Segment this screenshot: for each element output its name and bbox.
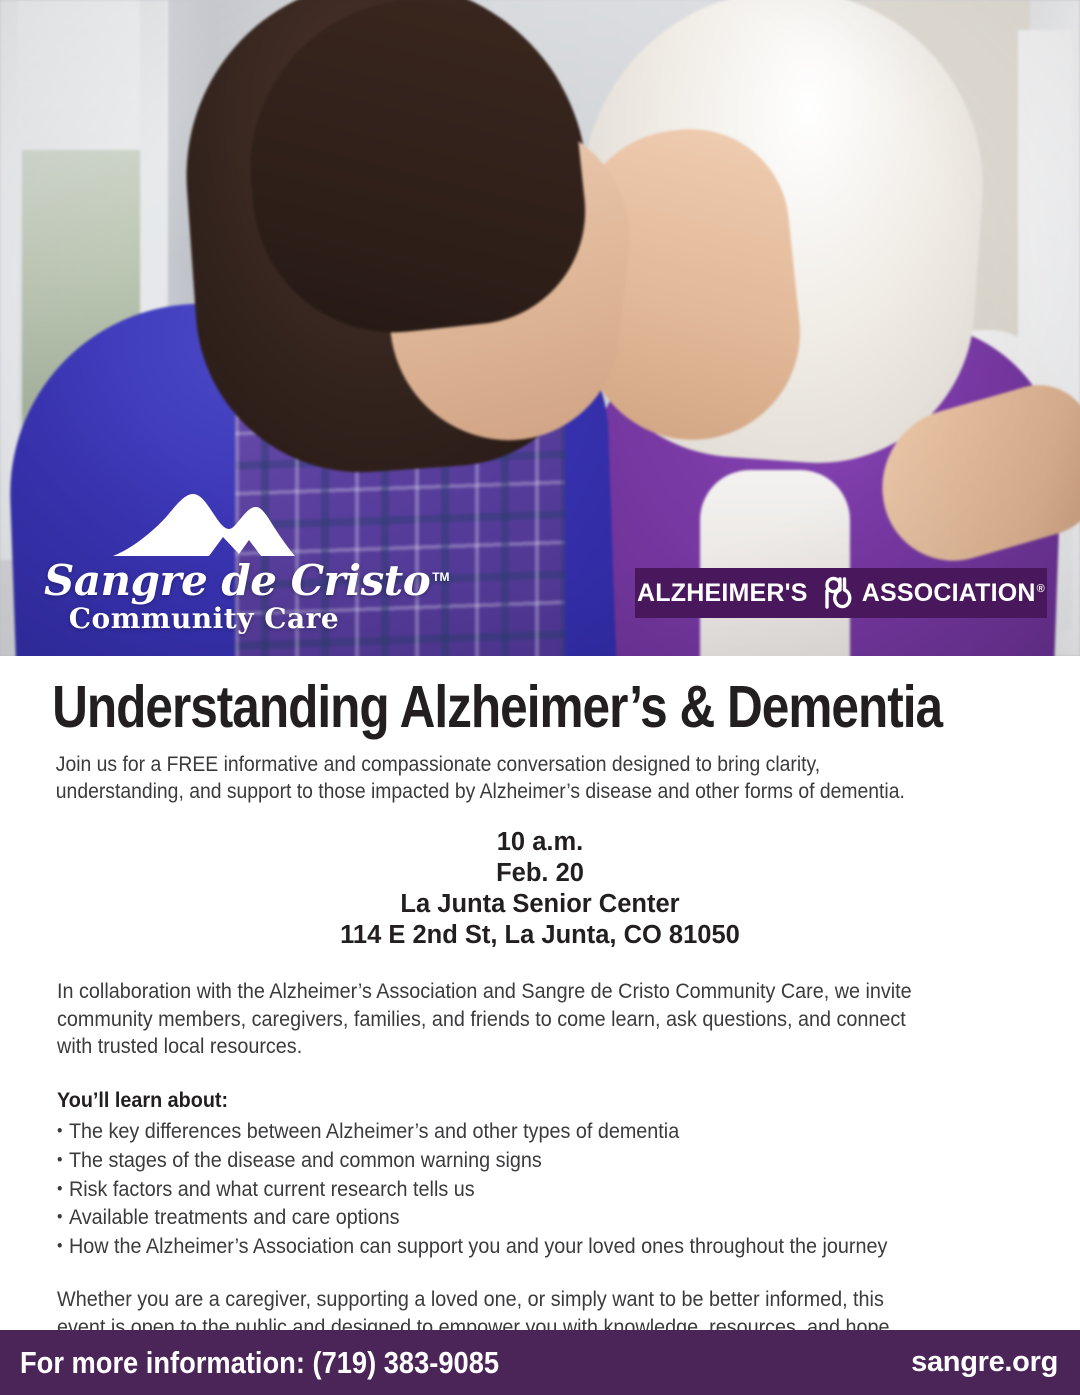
intro-paragraph: Join us for a FREE informative and compa… (0, 751, 972, 805)
hero-photo: Sangre de CristoTM Community Care ALZHEI… (0, 0, 1080, 656)
list-item: Available treatments and care options (57, 1203, 937, 1232)
collaboration-text: In collaboration with the Alzheimer’s As… (57, 978, 937, 1062)
alzheimers-word: ALZHEIMER'S (637, 581, 808, 606)
brand-name: Sangre de CristoTM (44, 560, 450, 602)
event-date: Feb. 20 (0, 858, 1080, 889)
association-word-text: ASSOCIATION (862, 579, 1036, 607)
trademark-mark: TM (432, 570, 449, 584)
alzheimers-logo-inner: ALZHEIMER'S ASSOCIATION® (637, 576, 1045, 610)
contact-info[interactable]: For more information: (719) 383-9085 (20, 1345, 499, 1381)
learn-heading: You’ll learn about: (57, 1087, 937, 1115)
sangre-de-cristo-logo: Sangre de CristoTM Community Care (44, 492, 364, 635)
event-details: 10 a.m. Feb. 20 La Junta Senior Center 1… (0, 827, 1080, 951)
mountain-icon (111, 492, 297, 558)
list-item: Risk factors and what current research t… (57, 1175, 937, 1204)
brand-name-text: Sangre de Cristo (44, 556, 430, 605)
brand-tagline: Community Care (44, 604, 364, 635)
list-item: The stages of the disease and common war… (57, 1146, 937, 1175)
learn-bullet-list: The key differences between Alzheimer’s … (57, 1117, 937, 1260)
page-title: Understanding Alzheimer’s & Dementia (0, 678, 907, 737)
learn-section: You’ll learn about: The key differences … (0, 1087, 994, 1260)
flyer-page: Sangre de CristoTM Community Care ALZHEI… (0, 0, 1080, 1395)
website-link[interactable]: sangre.org (911, 1346, 1058, 1379)
flyer-content: Understanding Alzheimer’s & Dementia Joi… (0, 656, 1080, 1342)
registered-mark: ® (1037, 583, 1045, 595)
list-item: The key differences between Alzheimer’s … (57, 1117, 937, 1146)
list-item: How the Alzheimer’s Association can supp… (57, 1232, 937, 1261)
event-venue: La Junta Senior Center (0, 889, 1080, 920)
collaboration-paragraph: In collaboration with the Alzheimer’s As… (0, 978, 994, 1062)
alzheimers-loops-icon (817, 576, 853, 610)
event-address: 114 E 2nd St, La Junta, CO 81050 (0, 920, 1080, 951)
intro-text: Join us for a FREE informative and compa… (56, 751, 916, 805)
alzheimers-association-logo: ALZHEIMER'S ASSOCIATION® (635, 568, 1047, 618)
association-word: ASSOCIATION® (862, 581, 1045, 606)
event-time: 10 a.m. (0, 827, 1080, 858)
footer-bar: For more information: (719) 383-9085 san… (0, 1330, 1080, 1395)
